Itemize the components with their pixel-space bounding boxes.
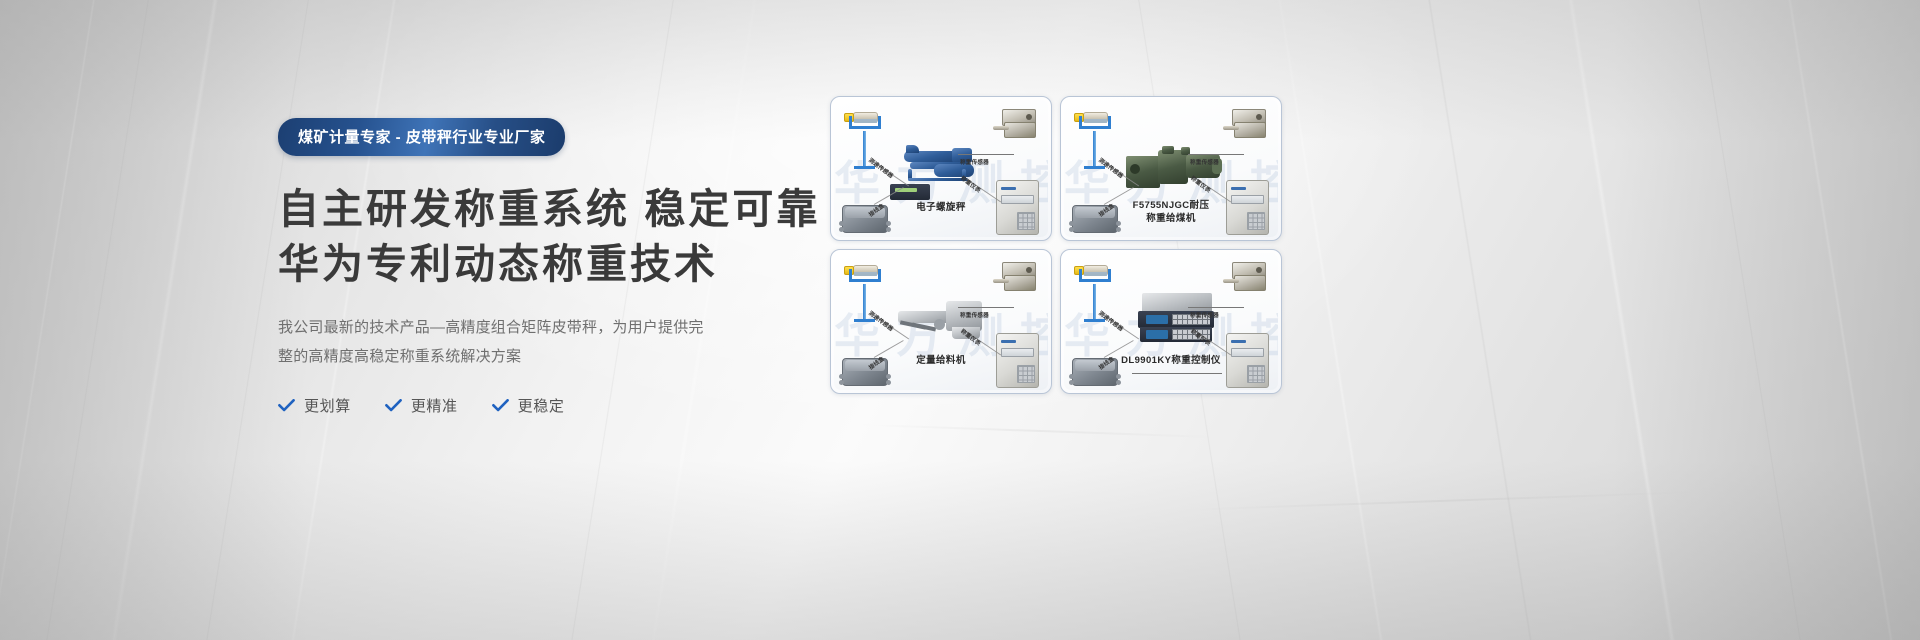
feature-bullet-2-label: 更精准 xyxy=(411,395,458,416)
product-diagram: 测速传感器 接线盒 称重传感器 称重仪表 定量给料机 xyxy=(834,253,1048,390)
speed-sensor-illustration xyxy=(844,108,886,170)
product-card-f5755njgc-coal-feeder[interactable]: 华方测控 xyxy=(1060,96,1282,241)
product-card-grid: 华方测控 xyxy=(830,96,1282,394)
product-card-quantitative-feeder[interactable]: 华方测控 xyxy=(830,249,1052,394)
feature-bullet-2: 更精准 xyxy=(385,395,458,416)
hero-description: 我公司最新的技术产品—高精度组合矩阵皮带秤，为用户提供完整的高精度高稳定称重系统… xyxy=(278,314,710,372)
load-cell-illustration xyxy=(1232,109,1276,143)
product-diagram: 测速传感器 接线盒 称重传感器 称重仪表 F5755NJGC耐压 称重给煤机 xyxy=(1064,100,1278,237)
product-title: F5755NJGC耐压 xyxy=(1064,200,1278,213)
coal-feeder-machine-illustration xyxy=(1126,146,1222,188)
feature-bullets: 更划算 更精准 更稳定 xyxy=(278,395,798,416)
feature-bullet-3-label: 更稳定 xyxy=(518,395,565,416)
feature-bullet-3: 更稳定 xyxy=(492,395,565,416)
headline-line-2: 华为专利动态称重技术 xyxy=(278,237,798,292)
hero-banner: 煤矿计量专家 - 皮带秤行业专业厂家 自主研发称重系统 稳定可靠 华为专利动态称… xyxy=(0,0,1920,640)
feature-bullet-1: 更划算 xyxy=(278,395,351,416)
load-cell-illustration xyxy=(1002,109,1046,143)
label-load-cell: 称重传感器 xyxy=(960,158,989,166)
headline-line-1: 自主研发称重系统 稳定可靠 xyxy=(278,186,820,232)
load-cell-illustration xyxy=(1232,262,1276,296)
check-icon xyxy=(492,399,509,412)
product-title: 定量给料机 xyxy=(834,355,1048,368)
feature-bullet-1-label: 更划算 xyxy=(304,395,351,416)
quantitative-feeder-machine-illustration xyxy=(898,303,990,339)
speed-sensor-illustration xyxy=(844,261,886,323)
product-card-dl9901ky-controller[interactable]: 华方测控 xyxy=(1060,249,1282,394)
hero-copy: 煤矿计量专家 - 皮带秤行业专业厂家 自主研发称重系统 稳定可靠 华为专利动态称… xyxy=(278,118,798,416)
check-icon xyxy=(278,399,295,412)
label-load-cell: 称重传感器 xyxy=(960,311,989,319)
speed-sensor-illustration xyxy=(1074,108,1116,170)
product-card-electronic-spiral-scale[interactable]: 华方测控 xyxy=(830,96,1052,241)
label-load-cell: 称重传感器 xyxy=(1190,158,1219,166)
product-diagram: 测速传感器 接线盒 称重传感器 称重仪表 电子螺旋秤 xyxy=(834,100,1048,237)
product-diagram: 测速传感器 接线盒 称重传感器 称重仪表 DL9901KY称重控制仪 xyxy=(1064,253,1278,390)
product-subtitle: 称重给煤机 xyxy=(1064,213,1278,226)
label-load-cell: 称重传感器 xyxy=(1190,311,1219,319)
load-cell-illustration xyxy=(1002,262,1046,296)
hero-badge: 煤矿计量专家 - 皮带秤行业专业厂家 xyxy=(278,118,565,156)
page-title: 自主研发称重系统 稳定可靠 华为专利动态称重技术 xyxy=(278,182,798,292)
speed-sensor-illustration xyxy=(1074,261,1116,323)
product-title: 电子螺旋秤 xyxy=(834,202,1048,215)
product-title: DL9901KY称重控制仪 xyxy=(1064,355,1278,368)
check-icon xyxy=(385,399,402,412)
